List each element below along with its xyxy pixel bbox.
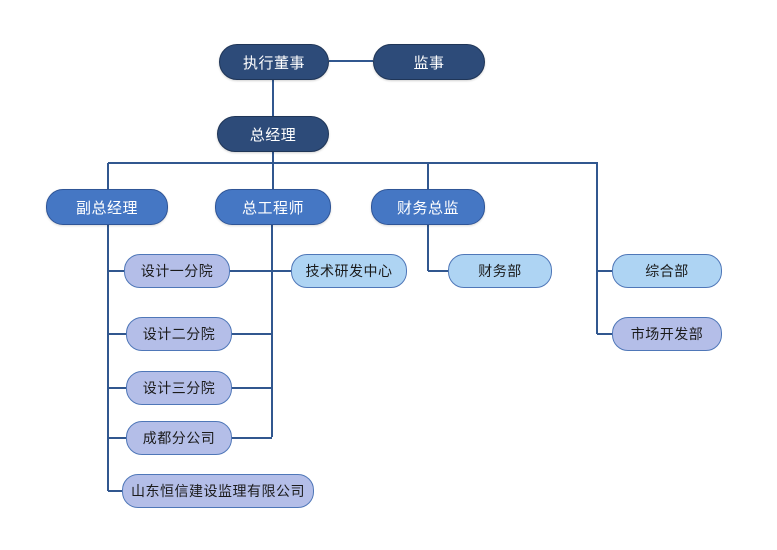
org-node-design_1[interactable]: 设计一分院 xyxy=(124,254,230,288)
org-node-label: 总经理 xyxy=(250,124,297,145)
org-node-deputy_gm[interactable]: 副总经理 xyxy=(46,189,168,225)
org-node-label: 山东恒信建设监理有限公司 xyxy=(131,481,305,501)
org-node-label: 技术研发中心 xyxy=(306,261,393,281)
org-node-label: 总工程师 xyxy=(242,197,304,218)
org-node-label: 设计二分院 xyxy=(143,324,216,344)
org-node-rd_center[interactable]: 技术研发中心 xyxy=(291,254,407,288)
org-node-label: 财务总监 xyxy=(397,197,459,218)
org-node-label: 财务部 xyxy=(478,261,522,281)
org-node-label: 综合部 xyxy=(645,261,689,281)
org-node-supervisor[interactable]: 监事 xyxy=(373,44,485,80)
org-node-label: 市场开发部 xyxy=(631,324,704,344)
org-node-label: 设计一分院 xyxy=(141,261,214,281)
org-node-general_affairs[interactable]: 综合部 xyxy=(612,254,722,288)
org-node-cfo[interactable]: 财务总监 xyxy=(371,189,485,225)
org-node-label: 设计三分院 xyxy=(143,378,216,398)
org-node-label: 执行董事 xyxy=(243,52,305,73)
org-node-chengdu_branch[interactable]: 成都分公司 xyxy=(126,421,232,455)
org-node-exec_director[interactable]: 执行董事 xyxy=(219,44,329,80)
org-node-label: 监事 xyxy=(413,52,444,73)
org-node-label: 成都分公司 xyxy=(143,428,216,448)
org-node-label: 副总经理 xyxy=(76,197,138,218)
org-node-design_3[interactable]: 设计三分院 xyxy=(126,371,232,405)
org-node-chief_engineer[interactable]: 总工程师 xyxy=(215,189,331,225)
org-node-finance_dept[interactable]: 财务部 xyxy=(448,254,552,288)
org-node-design_2[interactable]: 设计二分院 xyxy=(126,317,232,351)
org-node-shandong_sub[interactable]: 山东恒信建设监理有限公司 xyxy=(122,474,314,508)
org-node-general_manager[interactable]: 总经理 xyxy=(217,116,329,152)
org-chart: 执行董事监事总经理副总经理总工程师财务总监设计一分院技术研发中心财务部综合部设计… xyxy=(0,0,777,550)
org-node-market_dev[interactable]: 市场开发部 xyxy=(612,317,722,351)
